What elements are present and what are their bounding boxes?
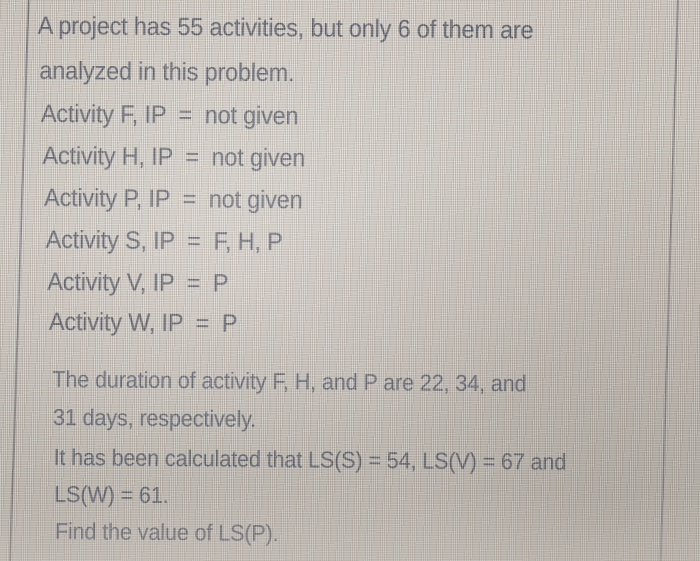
detail-line-question: Find the value of LS(P).: [55, 518, 279, 547]
activity-row-P: Activity P, IP = not given: [44, 184, 303, 215]
activity-row-F: Activity F, IP = not given: [41, 100, 299, 131]
detail-line-days: 31 days, respectively.: [53, 404, 256, 433]
intro-line-2: analyzed in this problem.: [39, 57, 294, 88]
activity-row-V: Activity V, IP = P: [47, 268, 228, 299]
activity-row-H: Activity H, IP = not given: [42, 142, 305, 174]
activity-row-S: Activity S, IP = F, H, P: [46, 226, 283, 257]
photographed-screen: A project has 55 activities, but only 6 …: [0, 0, 700, 561]
detail-line-ls-values: It has been calculated that LS(S) = 54, …: [53, 444, 566, 476]
problem-statement: A project has 55 activities, but only 6 …: [0, 0, 700, 561]
detail-line-ls-w: LS(W) = 61.: [54, 481, 169, 509]
detail-line-durations: The duration of activity F, H, and P are…: [52, 366, 526, 398]
activity-row-W: Activity W, IP = P: [49, 308, 238, 339]
intro-line-1: A project has 55 activities, but only 6 …: [38, 12, 534, 46]
